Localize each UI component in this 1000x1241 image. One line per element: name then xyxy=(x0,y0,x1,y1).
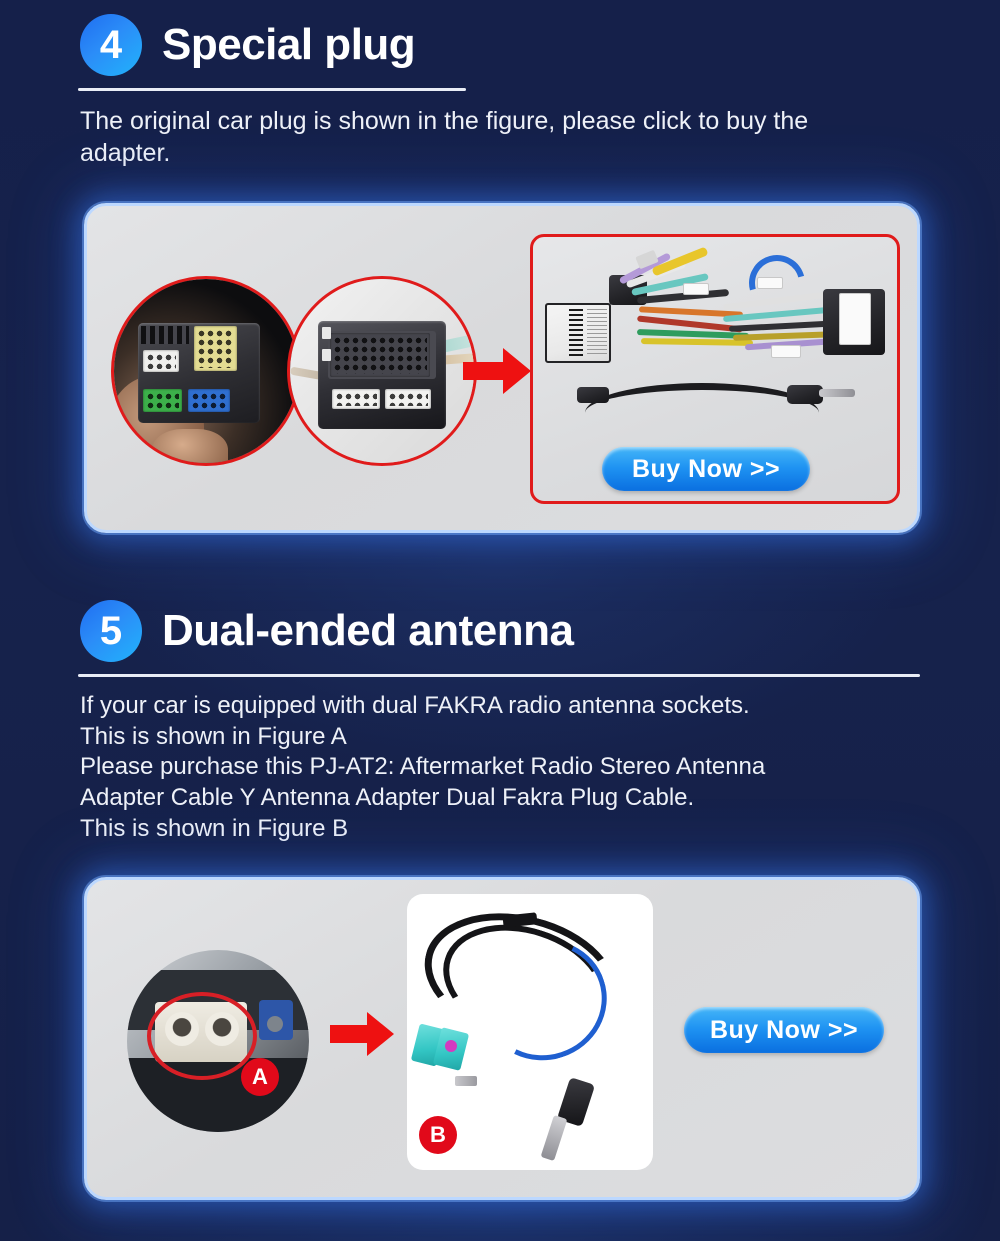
y-antenna-adapter-card: B xyxy=(407,894,653,1170)
red-right-arrow-icon xyxy=(463,346,531,396)
car-plug-rear-photo xyxy=(287,276,477,466)
section-title-4: Special plug xyxy=(162,20,415,70)
section-title-5: Dual-ended antenna xyxy=(162,606,574,656)
section-4-description: The original car plug is shown in the fi… xyxy=(0,91,930,169)
section-5-description-line-3: Please purchase this PJ-AT2: Aftermarket… xyxy=(80,752,850,783)
canbus-barcode xyxy=(569,309,583,357)
section-5-description-line-5: This is shown in Figure B xyxy=(80,814,850,845)
dual-fakra-socket-photo xyxy=(127,950,309,1132)
buy-now-button-special-plug[interactable]: Buy Now >> xyxy=(602,447,810,491)
figure-a-badge: A xyxy=(241,1058,279,1096)
red-right-arrow-icon-2 xyxy=(330,1010,394,1058)
figure-b-badge: B xyxy=(419,1116,457,1154)
section-dual-ended-antenna: 5 Dual-ended antenna If your car is equi… xyxy=(0,600,1000,845)
dual-antenna-panel: A B Buy Now xyxy=(84,877,920,1200)
section-5-description-line-4: Adapter Cable Y Antenna Adapter Dual Fak… xyxy=(80,783,850,814)
special-plug-panel: Buy Now >> xyxy=(84,203,920,533)
section-5-header: 5 Dual-ended antenna xyxy=(0,600,1000,662)
section-special-plug: 4 Special plug The original car plug is … xyxy=(0,14,1000,169)
section-4-header: 4 Special plug xyxy=(0,14,1000,76)
section-5-description: If your car is equipped with dual FAKRA … xyxy=(0,677,930,845)
section-5-description-line-2: This is shown in Figure A xyxy=(80,722,850,753)
section-number-badge-5: 5 xyxy=(80,600,142,662)
section-number-badge-4: 4 xyxy=(80,14,142,76)
section-4-description-line-2: adapter. xyxy=(80,137,850,169)
buy-now-button-dual-antenna[interactable]: Buy Now >> xyxy=(684,1007,884,1053)
section-5-description-line-1: If your car is equipped with dual FAKRA … xyxy=(80,691,850,722)
original-car-plug-photo xyxy=(111,276,301,466)
section-4-description-line-1: The original car plug is shown in the fi… xyxy=(80,105,850,137)
